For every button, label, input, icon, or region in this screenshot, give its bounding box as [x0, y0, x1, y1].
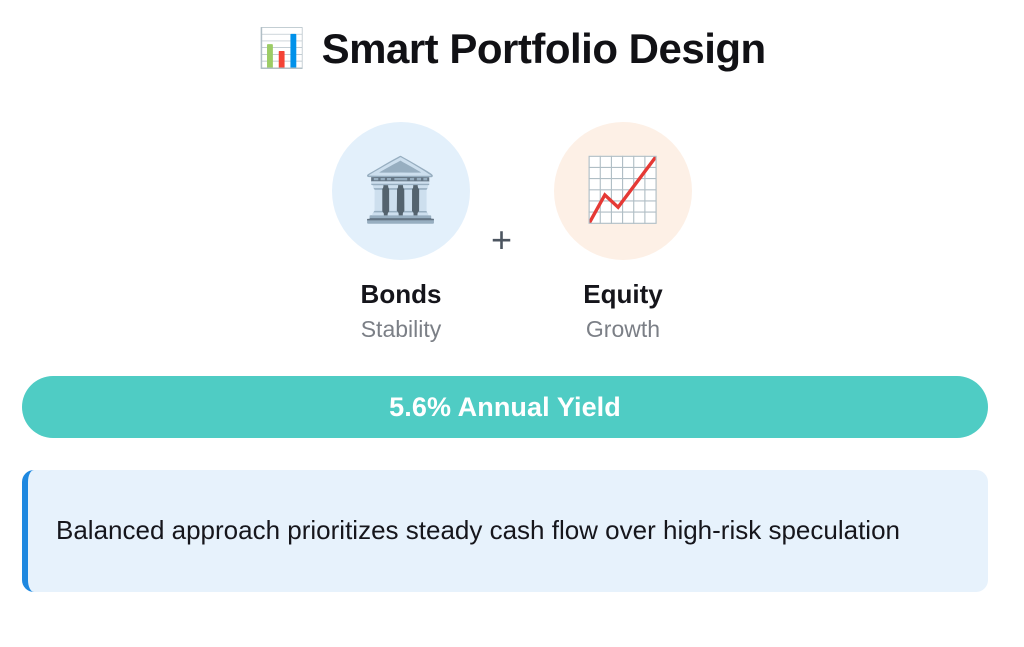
asset-equity-name: Equity [583, 280, 662, 310]
annual-yield-label: 5.6% Annual Yield [389, 394, 621, 421]
portfolio-summary-card: 📊 Smart Portfolio Design 🏛️ Bonds Stabil… [0, 0, 1024, 647]
asset-bonds-name: Bonds [361, 280, 442, 310]
asset-equity-icon-circle: 📈 [554, 122, 692, 260]
page-title: 📊 Smart Portfolio Design [0, 26, 1024, 72]
asset-equity: 📈 Equity Growth [512, 122, 734, 342]
classical-building-icon: 🏛️ [362, 160, 439, 222]
asset-bonds-icon-circle: 🏛️ [332, 122, 470, 260]
annual-yield-banner: 5.6% Annual Yield [22, 376, 988, 438]
page-title-text: Smart Portfolio Design [322, 26, 766, 72]
strategy-note-text: Balanced approach prioritizes steady cas… [28, 513, 930, 548]
asset-bonds-role: Stability [361, 316, 442, 342]
asset-equity-role: Growth [586, 316, 660, 342]
bar-chart-icon: 📊 [258, 30, 305, 68]
strategy-note-callout: Balanced approach prioritizes steady cas… [22, 470, 988, 592]
asset-composition: 🏛️ Bonds Stability + 📈 Equity Growth [0, 122, 1024, 342]
chart-increasing-icon: 📈 [584, 160, 661, 222]
asset-bonds: 🏛️ Bonds Stability [290, 122, 512, 342]
plus-icon-glyph: + [491, 222, 512, 258]
